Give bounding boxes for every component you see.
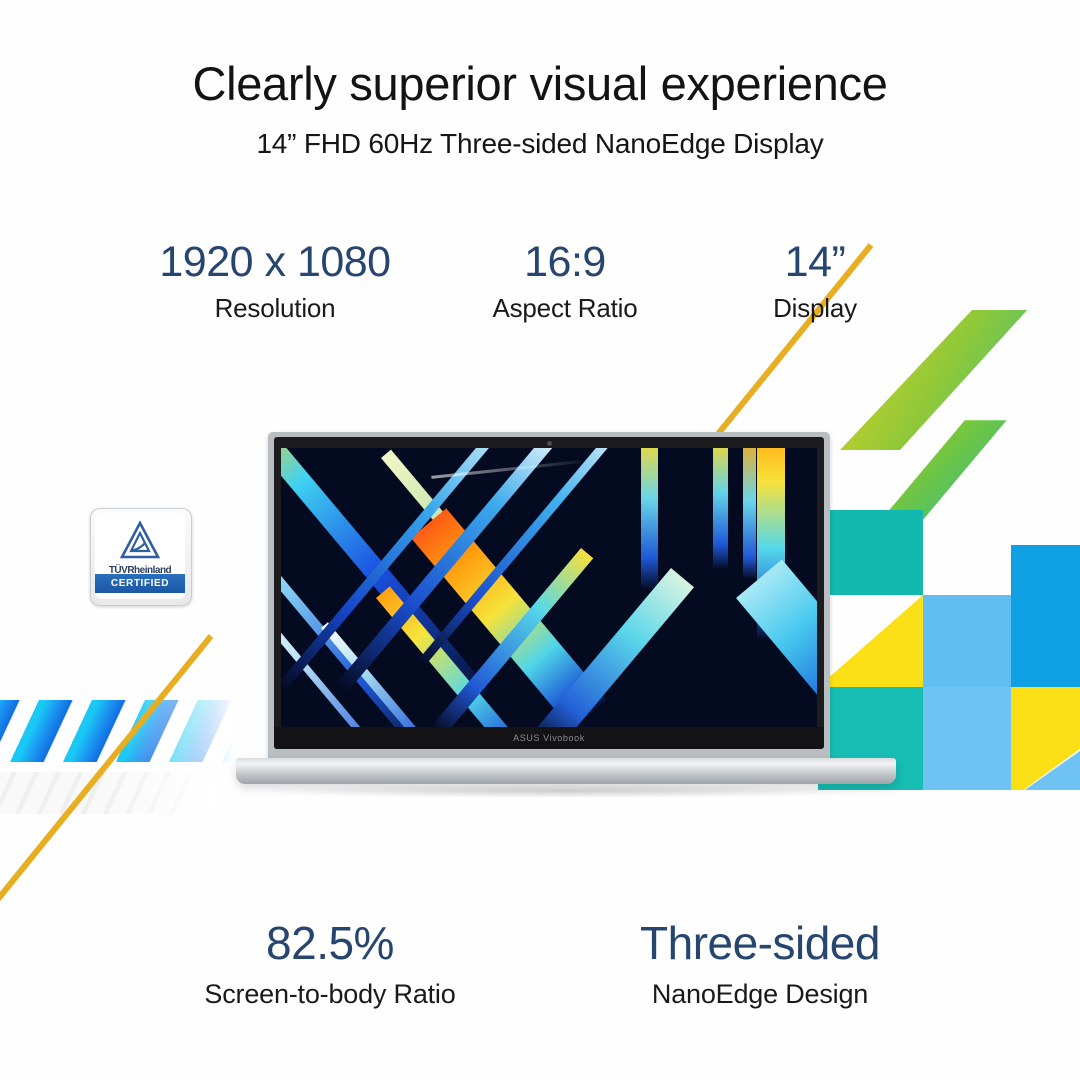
stat-screen-to-body-ratio-label: Screen-to-body Ratio xyxy=(110,979,550,1010)
laptop-lid: ASUS Vivobook xyxy=(268,432,830,762)
laptop-brand-label: ASUS Vivobook xyxy=(513,733,585,743)
stat-aspect-ratio-label: Aspect Ratio xyxy=(440,293,690,324)
left-white-stripes-fade-overlay xyxy=(0,772,215,814)
bottom-spec-stats-row: 82.5% Screen-to-body Ratio Three-sided N… xyxy=(110,918,970,1010)
page-title: Clearly superior visual experience xyxy=(0,58,1080,110)
laptop-product-image: ASUS Vivobook xyxy=(236,432,896,804)
laptop-brand-chin: ASUS Vivobook xyxy=(274,727,824,749)
product-infographic: Clearly superior visual experience 14” F… xyxy=(0,0,1080,1080)
stat-resolution-label: Resolution xyxy=(110,293,440,324)
stat-resolution-value: 1920 x 1080 xyxy=(110,238,440,286)
page-subtitle: 14” FHD 60Hz Three-sided NanoEdge Displa… xyxy=(0,128,1080,160)
stat-nanoedge-design: Three-sided NanoEdge Design xyxy=(550,918,970,1010)
stat-aspect-ratio: 16:9 Aspect Ratio xyxy=(440,238,690,324)
tuv-badge-inner: TÜVRheinland CERTIFIED xyxy=(95,513,185,599)
stat-resolution: 1920 x 1080 Resolution xyxy=(110,238,440,324)
light-blue-square-middle-lower xyxy=(923,687,1011,790)
light-blue-square-middle-upper xyxy=(923,595,1011,687)
blue-square-right xyxy=(1011,545,1080,687)
stat-display-size: 14” Display xyxy=(690,238,940,324)
tuv-badge-status-bar: CERTIFIED xyxy=(95,574,185,593)
tuv-rheinland-certified-badge: TÜVRheinland CERTIFIED xyxy=(90,508,192,606)
laptop-screen-wallpaper xyxy=(281,448,817,727)
tuv-badge-status-text: CERTIFIED xyxy=(111,578,169,589)
stat-screen-to-body-ratio-value: 82.5% xyxy=(110,918,550,970)
stat-display-size-label: Display xyxy=(690,293,940,324)
laptop-screen-bezel: ASUS Vivobook xyxy=(274,437,824,749)
laptop-base xyxy=(236,758,896,784)
stat-nanoedge-design-value: Three-sided xyxy=(550,918,970,970)
laptop-shadow xyxy=(276,784,856,798)
stat-display-size-value: 14” xyxy=(690,238,940,286)
stat-aspect-ratio-value: 16:9 xyxy=(440,238,690,286)
top-spec-stats-row: 1920 x 1080 Resolution 16:9 Aspect Ratio… xyxy=(110,238,940,324)
stat-screen-to-body-ratio: 82.5% Screen-to-body Ratio xyxy=(110,918,550,1010)
stat-nanoedge-design-label: NanoEdge Design xyxy=(550,979,970,1010)
webcam-icon xyxy=(547,441,552,446)
tuv-triangle-logo-icon xyxy=(118,519,162,568)
